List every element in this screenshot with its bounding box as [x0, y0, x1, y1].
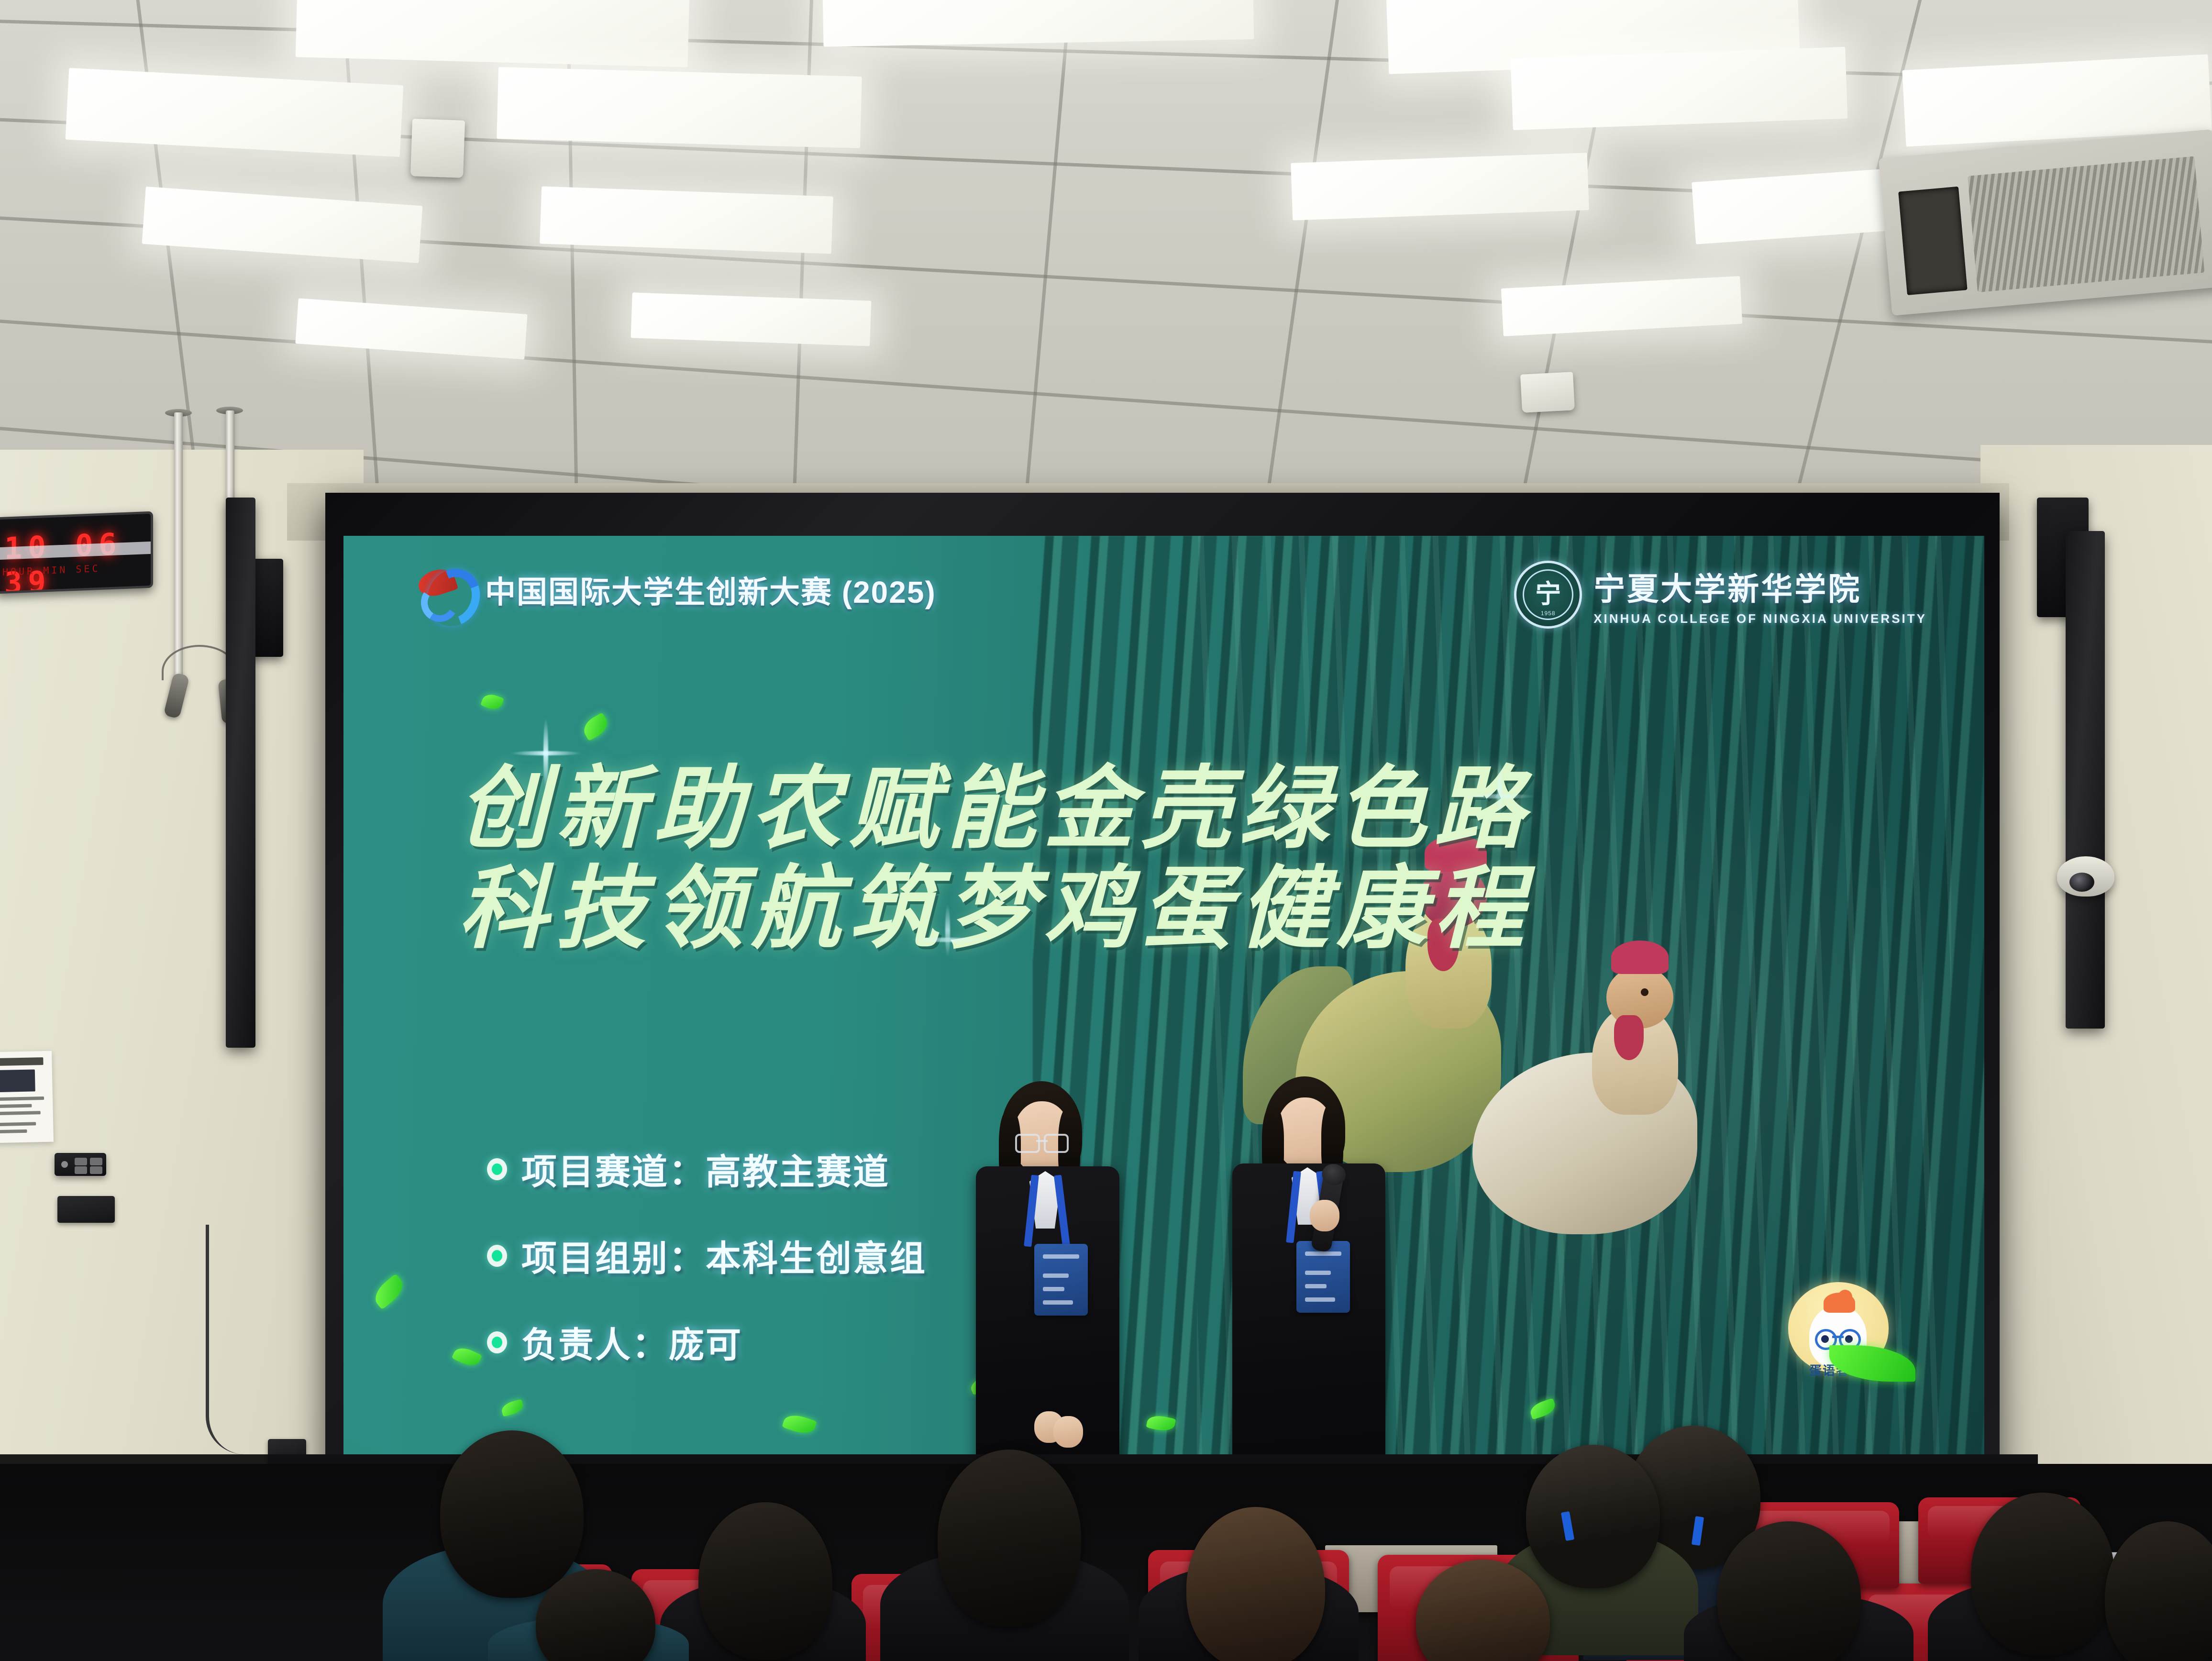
- presenter-glasses-icon: [1015, 1134, 1069, 1150]
- ceiling-light-panel: [630, 292, 871, 346]
- presenter-badge: [1034, 1244, 1088, 1316]
- column-speaker: [226, 498, 255, 1048]
- audience-member-head: [938, 1450, 1081, 1627]
- audience-member-head: [698, 1502, 832, 1660]
- presenter-right: [1215, 1076, 1512, 1507]
- air-conditioner-unit: [1879, 129, 2212, 316]
- ceiling-light-panel: [1511, 47, 1848, 130]
- presenter-badge: [1296, 1241, 1350, 1313]
- led-wall-clock: 10 06 39 HOUR MIN SEC: [0, 511, 153, 594]
- audience-member-head: [1526, 1445, 1660, 1588]
- ceiling-light-panel: [497, 67, 862, 148]
- ceiling-light-panel: [1291, 153, 1589, 221]
- column-speaker: [2066, 531, 2105, 1029]
- clock-time: 10 06 39: [4, 525, 151, 594]
- ceiling: [0, 0, 2212, 507]
- presenter-hand: [1053, 1416, 1083, 1448]
- audience-member-head: [1971, 1493, 2114, 1655]
- audience-member-head: [1186, 1507, 1325, 1661]
- ceiling-dome-camera: [2057, 856, 2114, 897]
- audience-member-head: [440, 1430, 584, 1598]
- ceiling-light-panel: [822, 0, 1254, 47]
- presenter-hand-holding-mic: [1310, 1200, 1339, 1231]
- auditorium-scene: 10 06 39 HOUR MIN SEC: [0, 0, 2212, 1661]
- camera-lens: [2069, 873, 2094, 892]
- hanging-mic-pole: [174, 412, 183, 685]
- ceiling-light-panel: [296, 0, 690, 67]
- ceiling-light-panel: [540, 186, 833, 254]
- wall-power-socket: [57, 1196, 115, 1223]
- ceiling-sensor: [1520, 372, 1575, 413]
- power-cable: [206, 1225, 276, 1454]
- wall-notice-sheet: [0, 1051, 54, 1143]
- av-control-panel[interactable]: [55, 1153, 106, 1176]
- ceiling-sensor: [410, 119, 465, 178]
